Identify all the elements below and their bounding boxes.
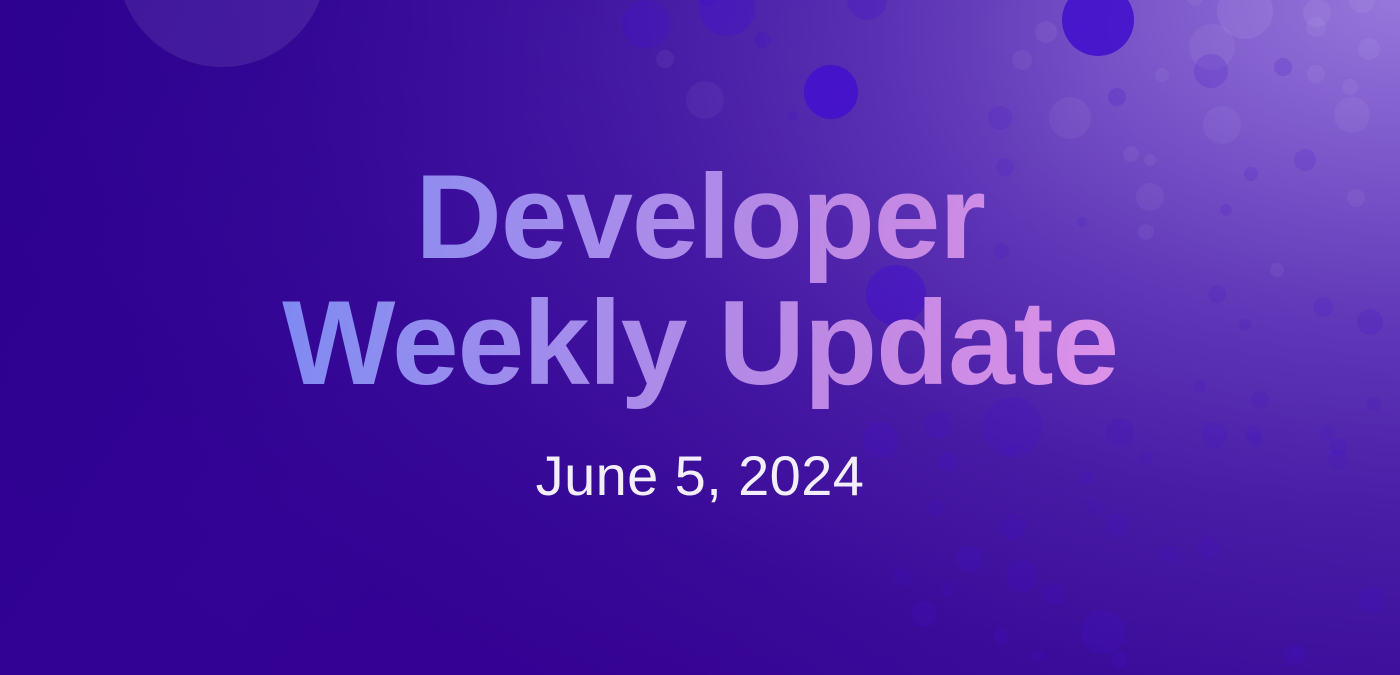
title-line-developer: Developer: [282, 153, 1118, 283]
issue-date: June 5, 2024: [536, 443, 865, 508]
weekly-update-banner: Developer Weekly Update June 5, 2024: [0, 0, 1400, 675]
title-line-weekly-update: Weekly Update: [282, 279, 1118, 409]
page-title: Developer Weekly Update: [282, 153, 1118, 408]
banner-content: Developer Weekly Update June 5, 2024: [0, 0, 1400, 675]
